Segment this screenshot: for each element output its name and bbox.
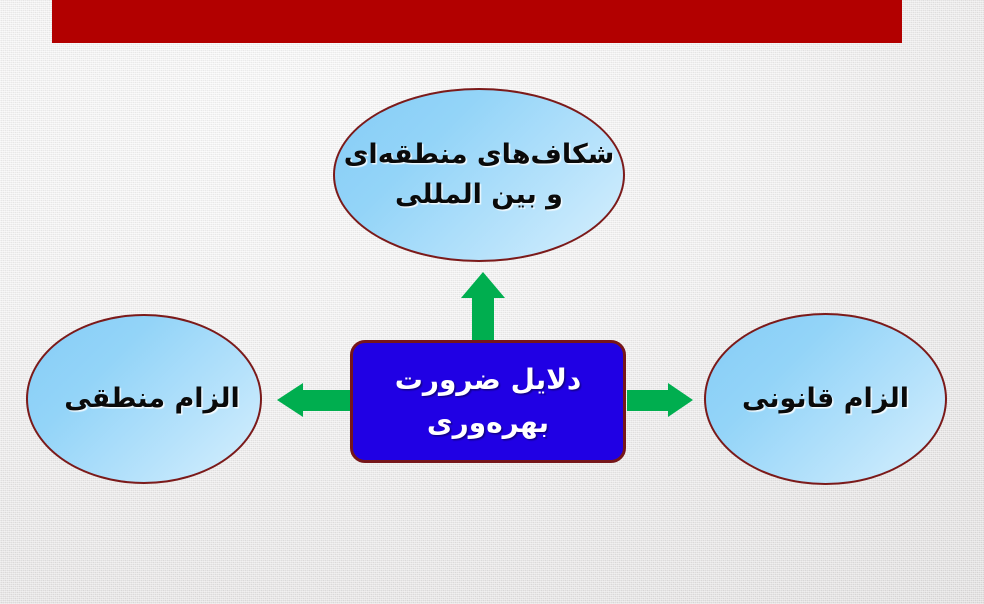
diagram-node-gaps-label: شکاف‌های منطقه‌ای و بین المللی <box>335 135 623 215</box>
diagram-node-center[interactable]: دلایل ضرورت بهره‌وری <box>350 340 626 463</box>
arrow-left-icon <box>277 383 350 418</box>
arrow-right-icon <box>627 383 693 418</box>
arrow-up-icon <box>461 272 505 343</box>
arrow-left-shaft <box>302 390 350 411</box>
arrow-up-head <box>461 272 505 298</box>
diagram-node-logical-label: الزام منطقی <box>56 380 247 418</box>
diagram-node-logical[interactable]: الزام منطقی <box>26 314 262 484</box>
diagram-node-legal[interactable]: الزام قانونی <box>704 313 947 485</box>
slide-title-text <box>52 0 902 43</box>
arrow-right-shaft <box>627 390 669 411</box>
arrow-up-shaft <box>472 296 494 343</box>
diagram-node-center-label: دلایل ضرورت بهره‌وری <box>353 359 623 444</box>
slide-canvas: شکاف‌های منطقه‌ای و بین المللی الزام منط… <box>0 0 984 604</box>
diagram-node-gaps[interactable]: شکاف‌های منطقه‌ای و بین المللی <box>333 88 625 262</box>
arrow-left-head <box>277 383 303 417</box>
arrow-right-head <box>668 383 693 417</box>
diagram-node-legal-label: الزام قانونی <box>734 380 917 418</box>
slide-title-bar <box>52 0 902 43</box>
